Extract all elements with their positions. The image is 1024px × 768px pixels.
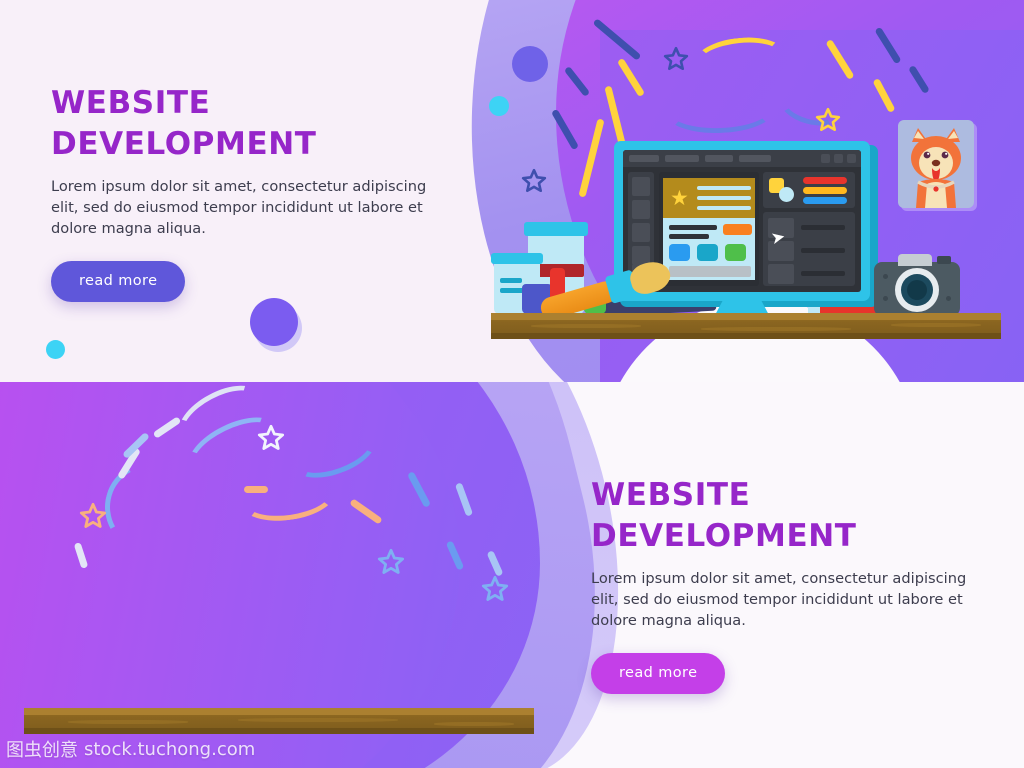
photo-camera — [874, 254, 960, 316]
content-bar-2 — [669, 234, 709, 239]
body-text-top: Lorem ipsum dolor sit amet, consectetur … — [51, 176, 451, 239]
camera-screw-top — [883, 274, 888, 279]
layer-label-1 — [801, 225, 845, 230]
star-icon: ★ — [670, 188, 689, 209]
title-line-1-bottom: WEBSITE — [591, 477, 750, 513]
layer-label-3 — [801, 271, 845, 276]
camera-lens-inner — [907, 280, 927, 300]
photo-frame-background — [898, 120, 974, 208]
toolbar-tab-2[interactable] — [665, 155, 699, 162]
decor-star-peach-outline-1 — [79, 502, 107, 530]
decor-star-blue-outline-b2 — [481, 575, 509, 603]
decor-star-blue-outline-2 — [521, 168, 547, 194]
decor-star-white-outline-1 — [257, 424, 285, 452]
toolbar-tab-3[interactable] — [705, 155, 733, 162]
decor-star-blue-outline-b1 — [377, 548, 405, 576]
read-more-button-top[interactable]: read more — [51, 261, 185, 302]
banner-top: ★ — [0, 0, 1024, 382]
sidebar-cell-1[interactable] — [632, 177, 650, 196]
monitor-design-canvas: ★ — [659, 172, 759, 286]
title-line-2: DEVELOPMENT — [51, 126, 317, 162]
camera-viewfinder — [898, 254, 932, 266]
hero-line-2 — [697, 196, 751, 200]
content-orange-button[interactable] — [723, 224, 752, 235]
sidebar-cell-2[interactable] — [632, 200, 650, 219]
content-button-blue[interactable] — [669, 244, 690, 261]
title-line-1: WEBSITE — [51, 85, 210, 121]
toolbar-button-1[interactable] — [821, 154, 830, 163]
content-button-green[interactable] — [725, 244, 746, 261]
hero-line-1 — [697, 186, 751, 190]
wooden-shelf-bottom — [24, 708, 534, 734]
decor-dash-peach-b1 — [244, 486, 268, 493]
toolbar-tab-1[interactable] — [629, 155, 659, 162]
content-button-teal[interactable] — [697, 244, 718, 261]
decor-circle-purple-left — [250, 298, 298, 346]
page-title-top: WEBSITE DEVELOPMENT — [51, 83, 451, 164]
decor-star-blue-outline-1 — [663, 46, 689, 72]
shiba-dog-illustration — [898, 120, 974, 208]
hero-line-3 — [697, 206, 751, 210]
palette-bar-yellow[interactable] — [803, 187, 847, 194]
layer-thumb-3[interactable] — [768, 264, 794, 284]
camera-screw-left — [883, 296, 888, 301]
decor-circle-indigo-top — [512, 46, 548, 82]
copy-block-bottom: WEBSITE DEVELOPMENT Lorem ipsum dolor si… — [591, 475, 991, 694]
design-hero-band: ★ — [663, 178, 755, 218]
paint-jar-small-line-1 — [500, 278, 522, 283]
banner-bottom: 12 3 6 9 ★ — [0, 382, 1024, 768]
copy-block-top: WEBSITE DEVELOPMENT Lorem ipsum dolor si… — [51, 83, 451, 302]
palette-swatch-cyan[interactable] — [779, 187, 794, 202]
content-footer-bar — [669, 266, 751, 277]
paint-jar-large-lid — [524, 222, 588, 236]
palette-bar-blue[interactable] — [803, 197, 847, 204]
wooden-shelf-top — [491, 313, 1001, 339]
body-text-bottom: Lorem ipsum dolor sit amet, consectetur … — [591, 568, 991, 631]
camera-shutter-button[interactable] — [937, 256, 951, 264]
decor-circle-cyan-left — [46, 340, 65, 359]
toolbar-tab-4[interactable] — [739, 155, 771, 162]
palette-bar-red[interactable] — [803, 177, 847, 184]
read-more-button-bottom[interactable]: read more — [591, 653, 725, 694]
poster-stage: ★ — [0, 0, 1024, 768]
sidebar-cell-3[interactable] — [632, 223, 650, 242]
camera-screw-right — [946, 296, 951, 301]
title-line-2-bottom: DEVELOPMENT — [591, 518, 857, 554]
layer-label-2 — [801, 248, 845, 253]
toolbar-button-3[interactable] — [847, 154, 856, 163]
paint-jar-small-lid — [491, 253, 543, 264]
dog-photo-frame — [898, 120, 974, 208]
content-bar-1 — [669, 225, 717, 230]
page-title-bottom: WEBSITE DEVELOPMENT — [591, 475, 991, 556]
toolbar-button-2[interactable] — [834, 154, 843, 163]
monitor-layers-panel — [763, 212, 855, 286]
decor-star-yellow-outline-1 — [815, 107, 841, 133]
monitor-palette-panel — [763, 172, 855, 208]
decor-circle-cyan-top — [489, 96, 509, 116]
design-content-band — [663, 218, 755, 280]
